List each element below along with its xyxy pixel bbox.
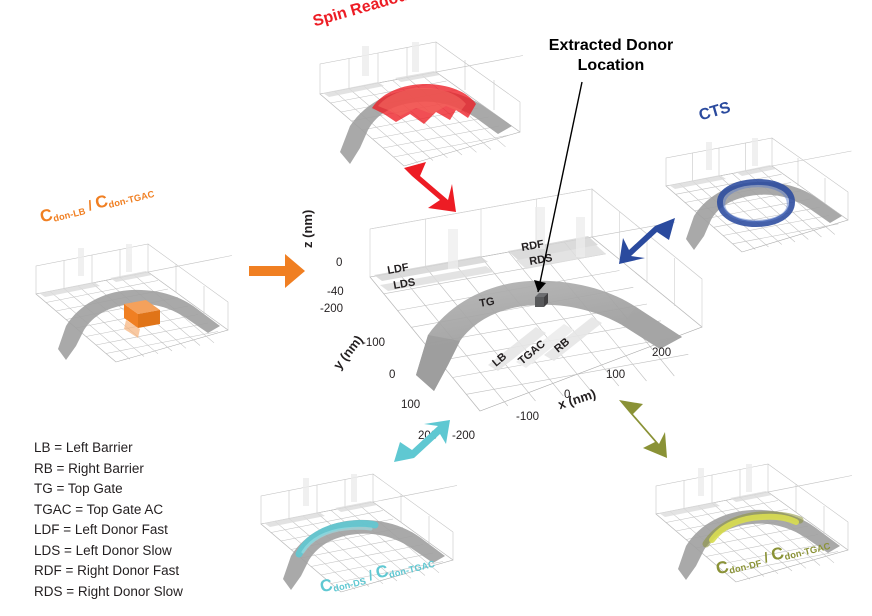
z-tick-m200: -200 [320, 303, 343, 315]
legend-item-rds: RDS = Right Donor Slow [34, 582, 264, 603]
c-don-lb-isosurface-block [124, 300, 160, 338]
legend-item-ldf: LDF = Left Donor Fast [34, 520, 264, 541]
annotation-line-2: Location [516, 56, 706, 76]
legend-item-tgac: TGAC = Top Gate AC [34, 500, 264, 521]
y-tick-100: 100 [401, 399, 420, 411]
panel-ridge-surface [686, 182, 842, 250]
x-tick-100: 100 [606, 369, 625, 381]
x-tick-0: 0 [564, 389, 570, 401]
panel-spin-readout [300, 20, 540, 180]
spin-readout-svg [300, 20, 540, 180]
cyan-arrow [390, 418, 454, 474]
legend-item-rb: RB = Right Barrier [34, 459, 264, 480]
blue-arrow [617, 212, 681, 272]
panel-cts [650, 120, 865, 265]
z-tick-m40: -40 [327, 286, 344, 298]
legend-item-lds: LDS = Left Donor Slow [34, 541, 264, 562]
y-tick-m100: -100 [362, 337, 385, 349]
spin-readout-isosurface [372, 84, 476, 124]
legend-item-rdf: RDF = Right Donor Fast [34, 561, 264, 582]
gate-ridge-left-flank [416, 335, 460, 391]
extracted-donor-annotation: Extracted Donor Location [516, 36, 706, 76]
panel-gate-strips [39, 244, 152, 297]
panel-label-c-don-lb: Cdon-LB / Cdon-TGAC [38, 180, 156, 228]
panel-c-don-df [640, 452, 865, 602]
y-tick-0: 0 [389, 369, 395, 381]
z-tick-0: 0 [336, 257, 342, 269]
legend-item-tg: TG = Top Gate [34, 479, 264, 500]
ratio-slash: / [367, 567, 375, 583]
panel-gate-strips [264, 474, 377, 527]
c-don-df-svg [640, 452, 865, 602]
olive-arrow [615, 396, 677, 460]
orange-arrow [247, 248, 309, 290]
red-arrow [398, 162, 460, 224]
c-subscript-don-lb: don-LB [52, 206, 86, 224]
cts-svg [650, 120, 865, 265]
annotation-line-1: Extracted Donor [516, 36, 706, 56]
x-tick-200: 200 [652, 347, 671, 359]
x-tick-m200: -200 [452, 430, 475, 442]
z-axis-title: z (nm) [300, 210, 315, 248]
ratio-slash: / [86, 197, 94, 213]
ratio-slash: / [762, 549, 770, 565]
abbreviation-legend: LB = Left Barrier RB = Right Barrier TG … [34, 438, 264, 602]
panel-c-don-lb [20, 228, 245, 373]
figure-canvas: LDF LDS RDF RDS TG LB TGAC RB z (nm) 0 -… [0, 0, 872, 616]
panel-gate-strips [659, 464, 772, 517]
legend-item-lb: LB = Left Barrier [34, 438, 264, 459]
c-don-lb-svg [20, 228, 245, 373]
x-tick-m100: -100 [516, 411, 539, 423]
c-subscript-don-tgac: don-TGAC [107, 189, 155, 210]
